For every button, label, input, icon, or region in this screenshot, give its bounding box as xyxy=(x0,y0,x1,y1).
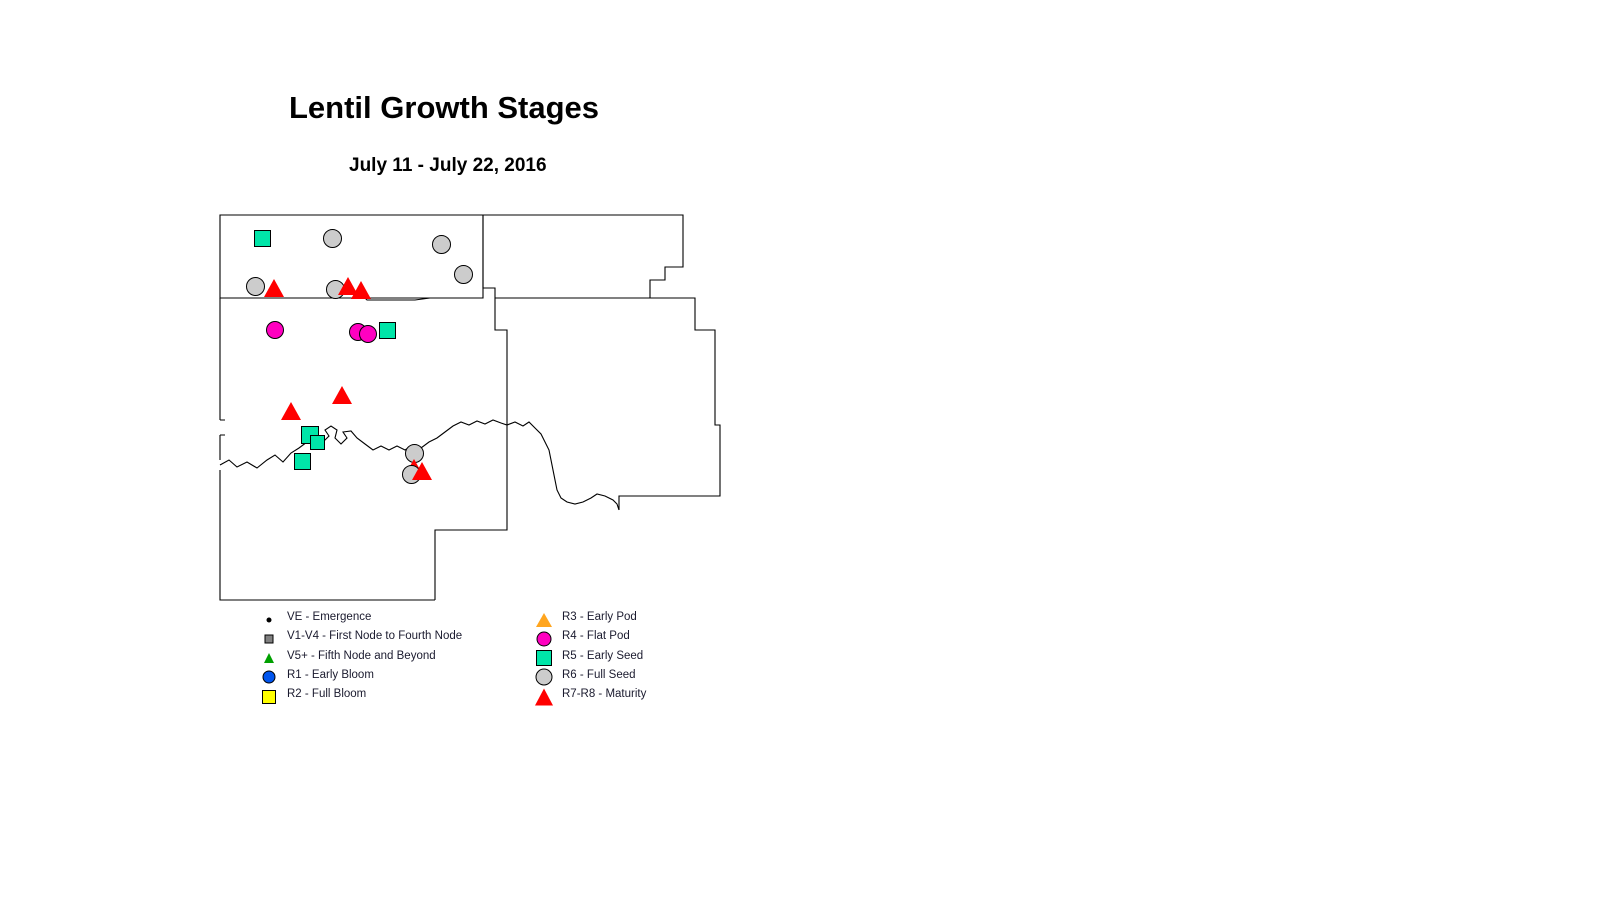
map-marker xyxy=(281,402,301,420)
map-legend: VE - EmergenceV1-V4 - First Node to Four… xyxy=(255,610,675,720)
map-marker xyxy=(310,435,325,450)
circle-icon xyxy=(530,668,558,687)
map-markers-layer xyxy=(215,210,725,605)
legend-item-label: R6 - Full Seed xyxy=(562,669,636,681)
legend-item-label: V1-V4 - First Node to Fourth Node xyxy=(287,630,462,642)
map-marker xyxy=(454,265,473,284)
legend-item-label: VE - Emergence xyxy=(287,611,371,623)
dot-icon xyxy=(255,610,283,629)
map-marker xyxy=(351,281,371,299)
lentil-growth-stages-map: Lentil Growth Stages July 11 - July 22, … xyxy=(0,0,1612,900)
triangle-icon xyxy=(530,610,558,629)
legend-item-label: V5+ - Fifth Node and Beyond xyxy=(287,650,436,662)
square-icon xyxy=(530,649,558,668)
circle-icon xyxy=(255,668,283,687)
legend-item-label: R2 - Full Bloom xyxy=(287,688,366,700)
map-marker xyxy=(332,386,352,404)
map-marker xyxy=(264,279,284,297)
legend-item-label: R3 - Early Pod xyxy=(562,611,637,623)
legend-item-label: R4 - Flat Pod xyxy=(562,630,630,642)
legend-item-label: R5 - Early Seed xyxy=(562,650,643,662)
legend-item-label: R7-R8 - Maturity xyxy=(562,688,646,700)
map-marker xyxy=(246,277,265,296)
triangle-icon xyxy=(530,687,558,706)
legend-item-label: R1 - Early Bloom xyxy=(287,669,374,681)
page-subtitle: July 11 - July 22, 2016 xyxy=(349,155,547,177)
circle-icon xyxy=(530,629,558,648)
page-title: Lentil Growth Stages xyxy=(289,90,599,126)
map-marker xyxy=(412,462,432,480)
map-marker xyxy=(254,230,271,247)
square-icon xyxy=(255,687,283,706)
small-square-icon xyxy=(255,629,283,648)
map-marker xyxy=(266,321,284,339)
map-marker xyxy=(359,325,377,343)
map-marker xyxy=(379,322,396,339)
small-triangle-icon xyxy=(255,649,283,668)
map-marker xyxy=(323,229,342,248)
map-marker xyxy=(294,453,311,470)
map-marker xyxy=(432,235,451,254)
